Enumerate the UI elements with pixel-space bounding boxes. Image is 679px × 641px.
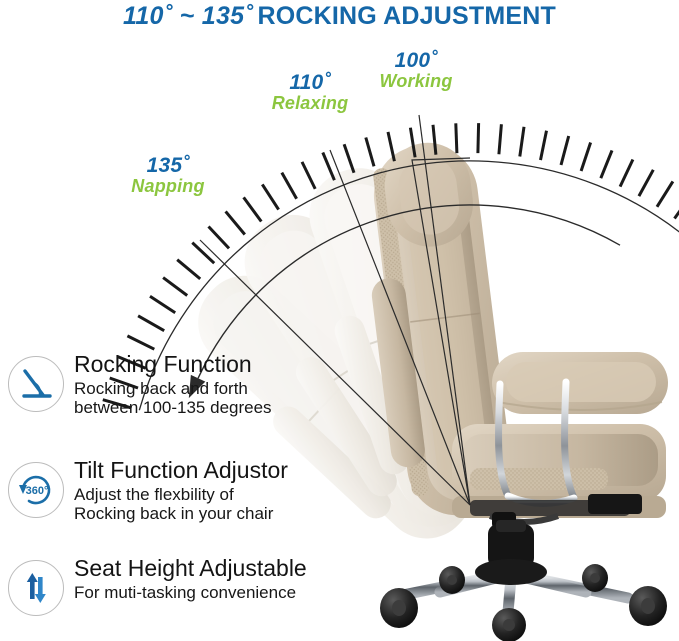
feature-rocking-function: Rocking Function Rocking back and forth …	[8, 352, 358, 418]
height-adjust-icon	[8, 560, 64, 616]
feature-desc-line: For muti-tasking convenience	[74, 583, 358, 603]
feature-title: Tilt Function Adjustor	[74, 458, 358, 484]
feature-description: For muti-tasking convenience	[74, 583, 358, 603]
chair-armrest	[492, 352, 668, 414]
feature-desc-line: Adjust the flexbility of	[74, 485, 358, 505]
callout-110-mode: Relaxing	[250, 94, 370, 113]
rotate-360-icon: 360°	[8, 462, 64, 518]
feature-tilt-adjustor: 360° Tilt Function Adjustor Adjust the f…	[8, 458, 358, 524]
feature-description: Adjust the flexbility of Rocking back in…	[74, 485, 358, 524]
feature-desc-line: Rocking back and forth	[74, 379, 358, 399]
feature-description: Rocking back and forth between 100-135 d…	[74, 379, 358, 418]
feature-title: Rocking Function	[74, 352, 358, 378]
base-hub	[475, 559, 547, 585]
callout-135-degrees: 135˚	[108, 155, 228, 177]
feature-desc-line: between 100-135 degrees	[74, 398, 358, 418]
callout-100-mode: Working	[356, 72, 476, 91]
feature-desc-line: Rocking back in your chair	[74, 504, 358, 524]
callout-135-napping: 135˚ Napping	[108, 155, 228, 196]
rotate-360-icon-label: 360°	[26, 485, 49, 497]
recline-angle-icon	[8, 356, 64, 412]
infographic-root: 110˚ ~ 135˚ ROCKING ADJUSTMENT	[0, 0, 679, 641]
callout-110-relaxing: 110˚ Relaxing	[250, 72, 370, 113]
callout-100-degrees: 100˚	[356, 50, 476, 72]
feature-title: Seat Height Adjustable	[74, 556, 358, 582]
callout-100-working: 100˚ Working	[356, 50, 476, 91]
callout-135-mode: Napping	[108, 177, 228, 196]
feature-seat-height: Seat Height Adjustable For muti-tasking …	[8, 556, 358, 602]
callout-110-degrees: 110˚	[250, 72, 370, 94]
